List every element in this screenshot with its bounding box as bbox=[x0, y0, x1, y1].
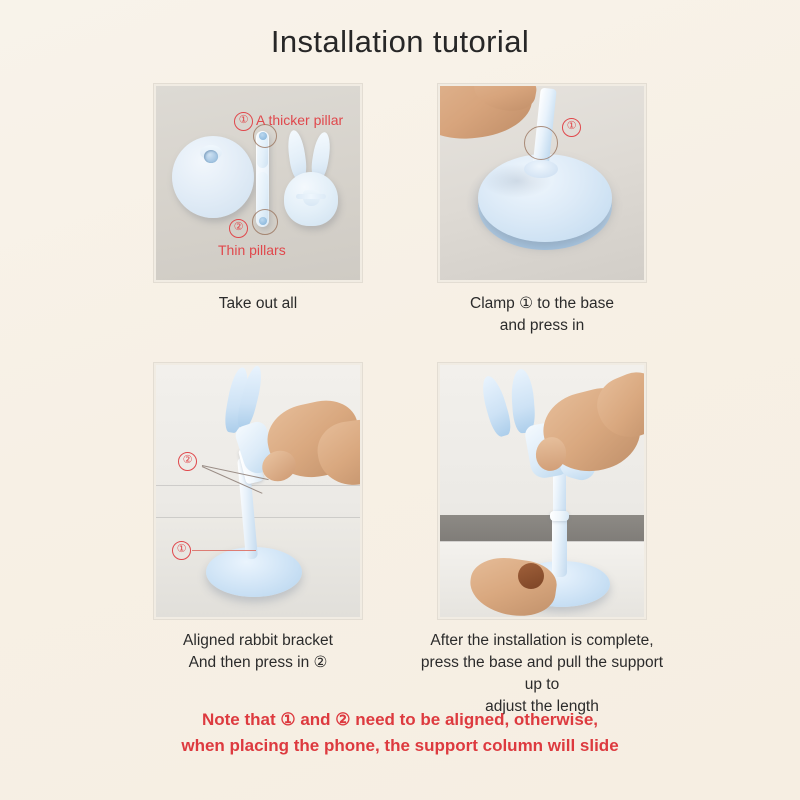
step-1-photo: ① A thicker pillar ② Thin pillars bbox=[154, 84, 362, 282]
support-column-lower-4 bbox=[552, 515, 567, 577]
step-2-caption-line2: and press in bbox=[422, 315, 662, 337]
step-4: After the installation is complete, pres… bbox=[438, 363, 646, 718]
page-title: Installation tutorial bbox=[0, 24, 800, 60]
step-4-caption-line1: After the installation is complete, bbox=[417, 630, 667, 652]
tutorial-page: Installation tutorial bbox=[0, 0, 800, 800]
wall-seam bbox=[156, 485, 360, 486]
step-row-bottom: ② ① Aligned rabbit bracket And then pres… bbox=[0, 363, 800, 718]
step-3-caption-line1: Aligned rabbit bracket bbox=[133, 630, 383, 652]
warning-note: Note that ① and ② need to be aligned, ot… bbox=[0, 707, 800, 760]
insertion-highlight-ring bbox=[524, 126, 558, 160]
table-edge-3 bbox=[156, 517, 360, 518]
step-3-photo: ② ① bbox=[154, 363, 362, 619]
base-collar bbox=[524, 160, 558, 178]
table-edge-4 bbox=[440, 541, 644, 542]
base-hole-center bbox=[204, 150, 218, 163]
column-joint-4 bbox=[550, 511, 569, 521]
step-2: ① Clamp ① to the base and press in bbox=[438, 84, 646, 337]
step-3-caption: Aligned rabbit bracket And then press in… bbox=[133, 630, 383, 674]
marker-1-insertion: ① bbox=[562, 118, 581, 137]
label-thin-pillars: A thicker pillar bbox=[256, 112, 343, 128]
marker-2-thin-pillars: ① bbox=[234, 112, 253, 131]
thumb-lower-4 bbox=[518, 563, 544, 589]
step-1-caption: Take out all bbox=[138, 293, 378, 315]
step-1: ① A thicker pillar ② Thin pillars Take o… bbox=[154, 84, 362, 337]
warning-note-line1: Note that ① and ② need to be aligned, ot… bbox=[0, 707, 800, 733]
leader-line-1 bbox=[192, 550, 256, 551]
thicker-pillar-highlight-ring bbox=[252, 209, 278, 235]
label-thicker-pillar: Thin pillars bbox=[218, 242, 286, 258]
marker-2-bracket-align: ② bbox=[178, 452, 197, 471]
marker-1-base-align: ① bbox=[172, 541, 191, 560]
warning-note-line2: when placing the phone, the support colu… bbox=[0, 733, 800, 759]
step-2-photo: ① bbox=[438, 84, 646, 282]
steps-grid: ① A thicker pillar ② Thin pillars Take o… bbox=[0, 84, 800, 718]
step-row-top: ① A thicker pillar ② Thin pillars Take o… bbox=[0, 84, 800, 337]
step-4-photo bbox=[438, 363, 646, 619]
step-2-caption-line1: Clamp ① to the base bbox=[422, 293, 662, 315]
step-3: ② ① Aligned rabbit bracket And then pres… bbox=[154, 363, 362, 718]
step-2-caption: Clamp ① to the base and press in bbox=[422, 293, 662, 337]
step-4-caption-line2: press the base and pull the support up t… bbox=[417, 652, 667, 696]
rabbit-bracket-slot bbox=[296, 194, 326, 199]
step-4-caption: After the installation is complete, pres… bbox=[417, 630, 667, 718]
step-3-caption-line2: And then press in ② bbox=[133, 652, 383, 674]
marker-1-thicker-pillar: ② bbox=[229, 219, 248, 238]
